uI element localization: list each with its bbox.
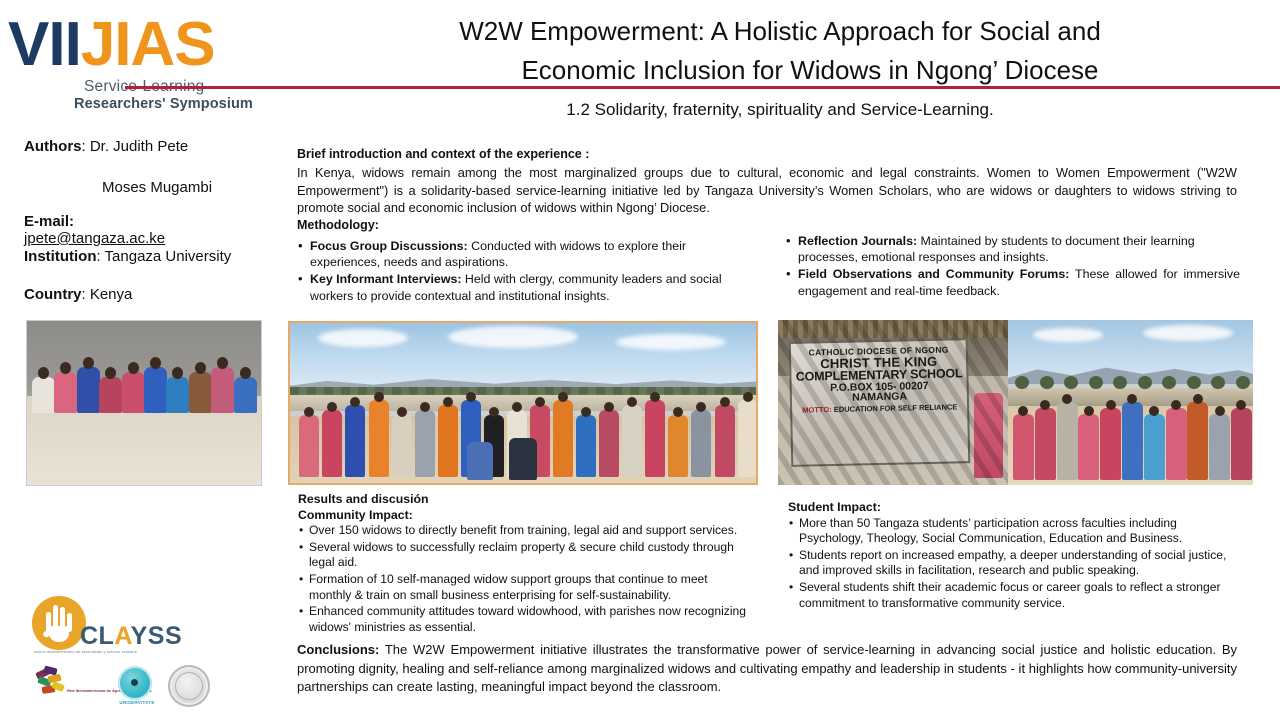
photo-person-head	[128, 362, 139, 374]
photo-person-head	[535, 397, 545, 407]
institution-value: : Tangaza University	[96, 248, 231, 265]
photo-person	[1057, 402, 1078, 480]
clayss-wordmark: CLAYSS	[80, 622, 182, 651]
photo-person-head	[627, 397, 637, 407]
photo-person	[1035, 408, 1056, 480]
photo-person	[211, 367, 234, 413]
photo-community-group	[288, 321, 758, 485]
photo-person	[645, 400, 665, 477]
photo-person	[668, 415, 688, 477]
sign-motto-text: EDUCATION FOR SELF RELIANCE	[831, 402, 957, 414]
photo-person	[691, 410, 711, 477]
photo-person-head	[1062, 394, 1072, 404]
conclusions-body: The W2W Empowerment initiative illustrat…	[297, 642, 1237, 694]
conclusions-section: Conclusions: The W2W Empowerment initiat…	[297, 641, 1237, 697]
university-seal-logo	[168, 665, 210, 707]
photo-person-head	[195, 362, 206, 374]
page-subtitle: 1.2 Solidarity, fraternity, spirituality…	[300, 100, 1260, 120]
photo-person-head	[1018, 406, 1028, 416]
photo-person-head	[581, 407, 591, 417]
authors-line: Authors: Dr. Judith Pete	[24, 136, 282, 157]
uniservitate-label: UNISERVITATE	[110, 700, 164, 705]
signboard: CATHOLIC DIOCESE OF NGONG CHRIST THE KIN…	[788, 338, 970, 467]
photo-maasai-women	[1008, 320, 1253, 485]
institution-label: Institution	[24, 248, 96, 265]
photo-person-head	[489, 407, 499, 417]
methodology-heading: Methodology:	[297, 217, 1237, 234]
photo-school-signboard: CATHOLIC DIOCESE OF NGONG CHRIST THE KIN…	[778, 320, 1008, 485]
photo-person	[599, 410, 619, 477]
tree-shape	[1138, 376, 1152, 389]
author-name-2: Moses Mugambi	[24, 177, 282, 198]
photo-person	[509, 438, 537, 480]
author-name-1: : Dr. Judith Pete	[82, 138, 189, 155]
photo-person	[1122, 402, 1143, 480]
photo-person-head	[743, 392, 753, 402]
email-label: E-mail	[24, 213, 69, 230]
sign-line-motto: MOTTO: EDUCATION FOR SELF RELIANCE	[796, 403, 964, 414]
sign-motto-label: MOTTO:	[802, 405, 832, 415]
photo-person	[622, 405, 642, 477]
photo-person-head	[38, 367, 49, 379]
clayss-text-a: A	[114, 622, 130, 650]
photo-person-head	[217, 357, 228, 369]
photo-person-head	[720, 397, 730, 407]
photo-person-head	[512, 402, 522, 412]
photo-person-head	[650, 392, 660, 402]
list-item: Key Informant Interviews: Held with cler…	[297, 271, 727, 303]
photo-person-head	[374, 392, 384, 402]
authors-label: Authors	[24, 138, 82, 155]
list-item: Students report on increased empathy, a …	[788, 548, 1243, 579]
list-item-label: Focus Group Discussions:	[310, 239, 468, 253]
uniservitate-logo: UNISERVITATE	[112, 666, 162, 708]
introduction-section: Brief introduction and context of the ex…	[297, 146, 1237, 234]
photo-person-head	[105, 367, 116, 379]
list-item-label: Key Informant Interviews:	[310, 272, 461, 286]
conclusions-label: Conclusions:	[297, 642, 379, 657]
tree-shape	[1040, 376, 1054, 389]
results-community-section: Results and discusión Community Impact: …	[298, 492, 753, 636]
country-label: Country	[24, 286, 82, 303]
clayss-circle-icon	[32, 596, 86, 650]
photo-person-head	[83, 357, 94, 369]
list-item-label: Reflection Journals:	[798, 234, 917, 248]
photo-person	[715, 405, 735, 477]
tree-shape	[1089, 376, 1103, 389]
logo-wordmark: VIIJIAS	[8, 14, 288, 76]
list-item: Reflection Journals: Maintained by stude…	[785, 233, 1240, 265]
photo-person-head	[304, 407, 314, 417]
email-line: E-mail:	[24, 213, 282, 230]
photo-person	[144, 367, 167, 413]
list-item: Field Observations and Community Forums:…	[785, 266, 1240, 298]
photo-person	[166, 377, 189, 413]
photo-person-head	[1149, 406, 1159, 416]
photo-person-head	[1127, 394, 1137, 404]
photo-person	[122, 372, 145, 413]
photo-person-head	[1215, 406, 1225, 416]
list-item: Focus Group Discussions: Conducted with …	[297, 238, 727, 270]
photo-person-head	[1084, 406, 1094, 416]
photo-person-head	[420, 402, 430, 412]
methodology-list-left: Focus Group Discussions: Conducted with …	[297, 238, 727, 304]
photo-person-head	[350, 397, 360, 407]
red-iberoamericana-logo: Red Iberoamericana de Aprendizaje-Servic…	[34, 666, 104, 706]
email-link[interactable]: jpete@tangaza.ac.ke	[24, 230, 165, 247]
photo-person	[1013, 414, 1034, 480]
logo-j-text: J	[81, 10, 114, 79]
partner-logos-row: Red Iberoamericana de Aprendizaje-Servic…	[28, 664, 228, 708]
photo-person	[322, 410, 342, 477]
photo-person-head	[604, 402, 614, 412]
poster-header: VIIJIAS Service-Learning Researchers' Sy…	[0, 0, 1280, 132]
photo-person	[234, 377, 257, 413]
photo-person	[1209, 414, 1230, 480]
list-item: More than 50 Tangaza students’ participa…	[788, 516, 1243, 547]
photo-person	[1231, 408, 1252, 480]
photo-person-head	[327, 402, 337, 412]
list-item: Several widows to successfully reclaim p…	[298, 540, 753, 571]
photo-person	[189, 372, 212, 413]
photo-person-head	[397, 407, 407, 417]
photo-person	[1166, 408, 1187, 480]
email-colon: :	[69, 213, 74, 230]
tree-shape	[1187, 376, 1201, 389]
photo-person	[32, 377, 55, 413]
seal-inner-ring	[175, 672, 203, 700]
logo-vii-text: VII	[8, 10, 81, 79]
clayss-tagline: centro latinoamericano de aprendizaje y …	[34, 650, 182, 654]
list-item: Over 150 widows to directly benefit from…	[298, 523, 753, 539]
community-impact-list: Over 150 widows to directly benefit from…	[298, 523, 753, 635]
photo-person	[54, 372, 77, 413]
title-line-2: Economic Inclusion for Widows in Ngong’ …	[300, 51, 1260, 90]
photo-person	[1187, 402, 1208, 480]
country-line: Country: Kenya	[24, 286, 282, 303]
photo-person	[1100, 408, 1121, 480]
photo-person	[738, 400, 758, 477]
photo-person-head	[1193, 394, 1203, 404]
photo-person	[369, 400, 389, 477]
photo-person	[576, 415, 596, 477]
photo-person-head	[172, 367, 183, 379]
clayss-text-cl: CL	[80, 622, 114, 650]
photo-person-head	[150, 357, 161, 369]
cloud-shape	[1143, 325, 1233, 341]
footer-logos: CLAYSS centro latinoamericano de aprendi…	[28, 596, 228, 708]
photo-person-head	[1171, 400, 1181, 410]
photo-person-head	[240, 367, 251, 379]
results-section-title: Results and discusión	[298, 492, 753, 508]
vii-jias-logo: VIIJIAS Service-Learning Researchers' Sy…	[8, 14, 288, 126]
student-impact-title: Student Impact:	[788, 500, 1243, 516]
photo-person-head	[466, 392, 476, 402]
logo-subtitle-symposium: Researchers' Symposium	[74, 96, 253, 112]
clayss-text-yss: YSS	[131, 622, 183, 650]
results-student-section: Student Impact: More than 50 Tangaza stu…	[788, 500, 1243, 612]
page-title: W2W Empowerment: A Holistic Approach for…	[300, 12, 1260, 90]
methodology-right-column: Reflection Journals: Maintained by stude…	[785, 233, 1240, 300]
list-item-label: Field Observations and Community Forums:	[798, 267, 1069, 281]
logo-ias-text: IAS	[114, 10, 214, 79]
photo-person	[345, 405, 365, 477]
photo-person	[1144, 414, 1165, 480]
photo-person	[467, 442, 493, 480]
photo-person-head	[1040, 400, 1050, 410]
tree-shape	[1236, 376, 1250, 389]
photo-person	[438, 405, 458, 477]
photo-person	[1078, 414, 1099, 480]
photo-widows-meeting	[26, 320, 262, 486]
title-line-1: W2W Empowerment: A Holistic Approach for…	[300, 12, 1260, 51]
institution-line: Institution: Tangaza University	[24, 248, 282, 266]
student-impact-list: More than 50 Tangaza students’ participa…	[788, 516, 1243, 612]
photo-person	[77, 367, 100, 413]
introduction-body: In Kenya, widows remain among the most m…	[297, 164, 1237, 217]
photo-person-head	[1106, 400, 1116, 410]
photo-person-head	[1236, 400, 1246, 410]
photo-person	[392, 415, 412, 477]
list-item: Enhanced community attitudes toward wido…	[298, 604, 753, 635]
list-item: Several students shift their academic fo…	[788, 580, 1243, 611]
photo-person-head	[696, 402, 706, 412]
photo-person	[99, 377, 122, 413]
methodology-left-column: Focus Group Discussions: Conducted with …	[297, 238, 727, 305]
photo-person	[299, 415, 319, 477]
photo-person-head	[673, 407, 683, 417]
list-item: Formation of 10 self-managed widow suppo…	[298, 572, 753, 603]
uniservitate-dot-icon	[131, 679, 138, 686]
photo-person	[553, 400, 573, 477]
photo-person-head	[443, 397, 453, 407]
photo-person	[415, 410, 435, 477]
introduction-heading: Brief introduction and context of the ex…	[297, 146, 1237, 163]
photo-roof	[778, 320, 1008, 338]
photo-person-head	[558, 392, 568, 402]
community-impact-title: Community Impact:	[298, 508, 753, 524]
clayss-logo: CLAYSS centro latinoamericano de aprendi…	[32, 596, 182, 658]
photo-person-head	[60, 362, 71, 374]
authors-block: Authors: Dr. Judith Pete Moses Mugambi E…	[24, 136, 282, 303]
photo-person	[974, 393, 1004, 479]
country-value: : Kenya	[82, 286, 133, 303]
methodology-list-right: Reflection Journals: Maintained by stude…	[785, 233, 1240, 299]
hand-icon	[44, 604, 74, 642]
